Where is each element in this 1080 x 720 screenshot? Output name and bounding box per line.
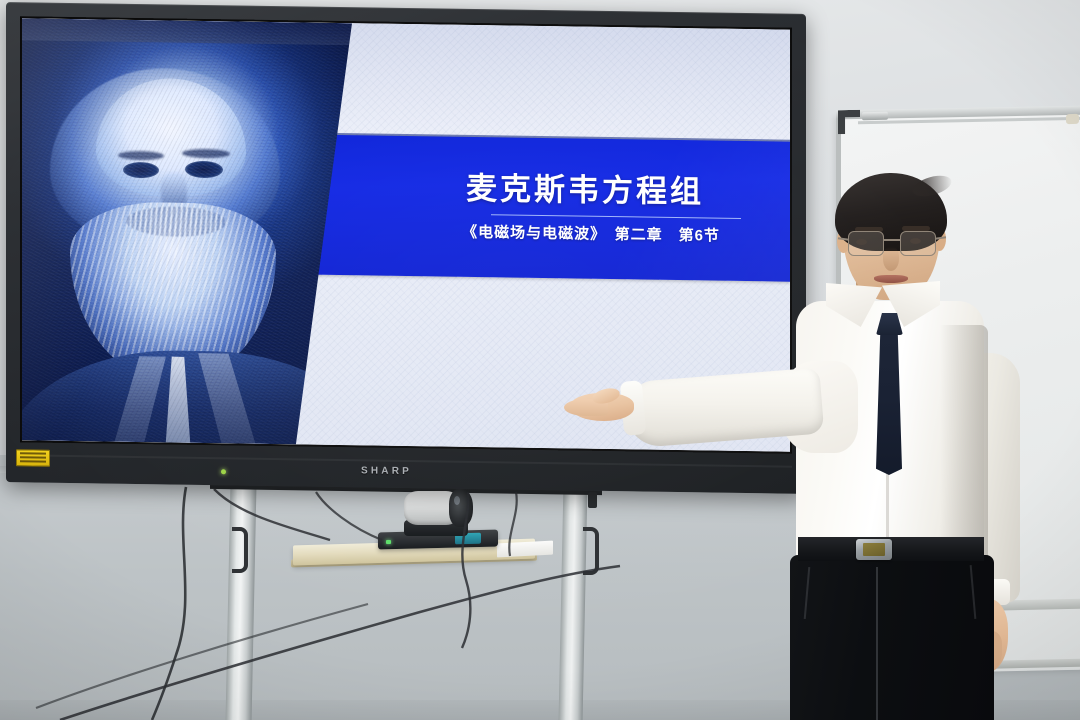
portrait-vignette bbox=[22, 18, 352, 445]
presenter-nose bbox=[883, 247, 899, 271]
presenter bbox=[640, 175, 1060, 720]
glasses-lens-left bbox=[848, 231, 884, 256]
glasses-lens-right bbox=[900, 231, 936, 256]
presenter-trousers bbox=[790, 555, 994, 720]
brand-logo: SHARP bbox=[361, 465, 412, 477]
glasses-bridge bbox=[884, 239, 900, 241]
presenter-left-hand-gesture bbox=[564, 387, 638, 427]
maxwell-portrait bbox=[22, 18, 352, 445]
classroom-scene: SHARP bbox=[0, 0, 1080, 720]
presenter-mouth bbox=[874, 275, 908, 283]
power-led-icon bbox=[221, 469, 226, 474]
belt-buckle bbox=[856, 539, 892, 560]
trouser-crease bbox=[876, 567, 878, 720]
caution-sticker bbox=[16, 449, 50, 467]
